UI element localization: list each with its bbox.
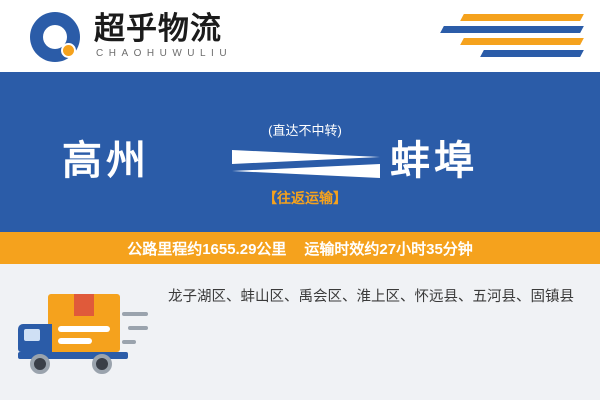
logistics-route-banner: 超乎物流 CHAOHUWULIU 高州 蚌埠 (直达不中转) 【往返运输】 公路… [0, 0, 600, 400]
header: 超乎物流 CHAOHUWULIU [0, 0, 600, 72]
info-bar: 公路里程约1655.29公里 运输时效约27小时35分钟 [0, 232, 600, 264]
truck-speed-line [122, 340, 136, 344]
arrow-right-shape [232, 150, 380, 164]
destination-city: 蚌埠 [390, 128, 478, 186]
route-note-direct: (直达不中转) [250, 120, 360, 139]
brand-name-en: CHAOHUWULIU [96, 48, 232, 59]
delivery-truck-icon [18, 282, 154, 382]
brand-name-cn: 超乎物流 [94, 12, 222, 46]
arrow-left-shape [232, 164, 380, 178]
origin-city: 高州 [62, 128, 150, 186]
truck-wheel-front [30, 354, 50, 374]
truck-speed-line [122, 312, 148, 316]
logo-dot-shape [61, 43, 76, 58]
circle-ring-logo-icon [30, 12, 80, 62]
duration-text: 运输时效约27小时35分钟 [304, 238, 472, 259]
truck-speed-line [128, 326, 148, 330]
stripe-bar [460, 14, 584, 21]
route-note-roundtrip: 【往返运输】 [240, 188, 370, 208]
coverage-areas-text: 龙子湖区、蚌山区、禹会区、淮上区、怀远县、五河县、固镇县 [168, 284, 580, 310]
truck-cab-window [24, 329, 40, 341]
truck-box-line [58, 338, 92, 344]
distance-text: 公路里程约1655.29公里 [127, 238, 286, 259]
double-arrow-icon [232, 148, 380, 178]
stripe-bar [440, 26, 584, 33]
speed-stripes-icon [442, 14, 582, 58]
truck-cargo-tab [74, 294, 94, 316]
stripe-bar [480, 50, 584, 57]
truck-box-line [58, 326, 110, 332]
stripe-bar [460, 38, 584, 45]
truck-wheel-rear [92, 354, 112, 374]
footer: 龙子湖区、蚌山区、禹会区、淮上区、怀远县、五河县、固镇县 [0, 264, 600, 400]
